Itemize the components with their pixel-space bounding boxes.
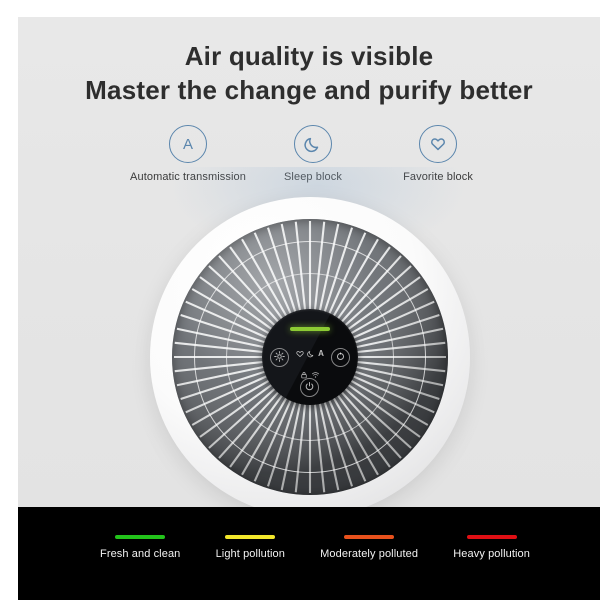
favorite-indicator-heart-icon xyxy=(296,345,304,363)
legend-label: Heavy pollution xyxy=(453,548,530,560)
legend-item-heavy-pollution: Heavy pollution xyxy=(453,535,530,560)
feature-label: Favorite block xyxy=(378,171,498,183)
legend-item-moderately-polluted: Moderately polluted xyxy=(320,535,418,560)
mode-button[interactable] xyxy=(331,348,350,367)
legend-color-bar xyxy=(225,535,275,539)
control-panel: A xyxy=(262,309,358,405)
feature-favorite-block[interactable]: Favorite block xyxy=(378,125,498,183)
status-indicator-group: A xyxy=(291,345,329,384)
legend-color-bar xyxy=(467,535,517,539)
legend-item-light-pollution: Light pollution xyxy=(216,535,285,560)
legend-item-fresh-and-clean: Fresh and clean xyxy=(100,535,180,560)
auto-indicator-a-icon: A xyxy=(318,350,324,358)
legend-label: Light pollution xyxy=(216,548,285,560)
legend-label: Fresh and clean xyxy=(100,548,180,560)
headline-line-2: Master the change and purify better xyxy=(18,73,600,107)
feature-list: A Automatic transmission Sleep block Fav… xyxy=(128,125,498,183)
lock-indicator-lock-icon xyxy=(300,366,308,384)
air-quality-indicator-bar xyxy=(290,327,330,331)
legend-color-bar xyxy=(115,535,165,539)
svg-text:A: A xyxy=(183,136,193,153)
status-row-bottom xyxy=(300,366,320,384)
legend-item-list: Fresh and clean Light pollution Moderate… xyxy=(100,535,530,560)
legend-color-bar xyxy=(344,535,394,539)
legend-label: Moderately polluted xyxy=(320,548,418,560)
feature-label: Automatic transmission xyxy=(128,171,248,183)
air-purifier: A xyxy=(150,197,470,517)
product-banner: Air quality is visible Master the change… xyxy=(18,17,600,507)
headline-line-1: Air quality is visible xyxy=(185,41,434,71)
ring-icon xyxy=(335,349,346,367)
auto-a-icon: A xyxy=(169,125,207,163)
wifi-indicator-wifi-icon xyxy=(311,366,320,384)
page-title: Air quality is visible Master the change… xyxy=(18,39,600,107)
air-quality-legend: Fresh and clean Light pollution Moderate… xyxy=(18,507,600,600)
feature-sleep-block[interactable]: Sleep block xyxy=(253,125,373,183)
status-row-top: A xyxy=(296,345,324,363)
fan-speed-button[interactable] xyxy=(270,348,289,367)
heart-icon xyxy=(419,125,457,163)
feature-automatic-transmission[interactable]: A Automatic transmission xyxy=(128,125,248,183)
feature-label: Sleep block xyxy=(253,171,373,183)
moon-icon xyxy=(294,125,332,163)
sleep-indicator-moon-icon xyxy=(307,345,315,363)
fan-icon xyxy=(274,349,285,367)
